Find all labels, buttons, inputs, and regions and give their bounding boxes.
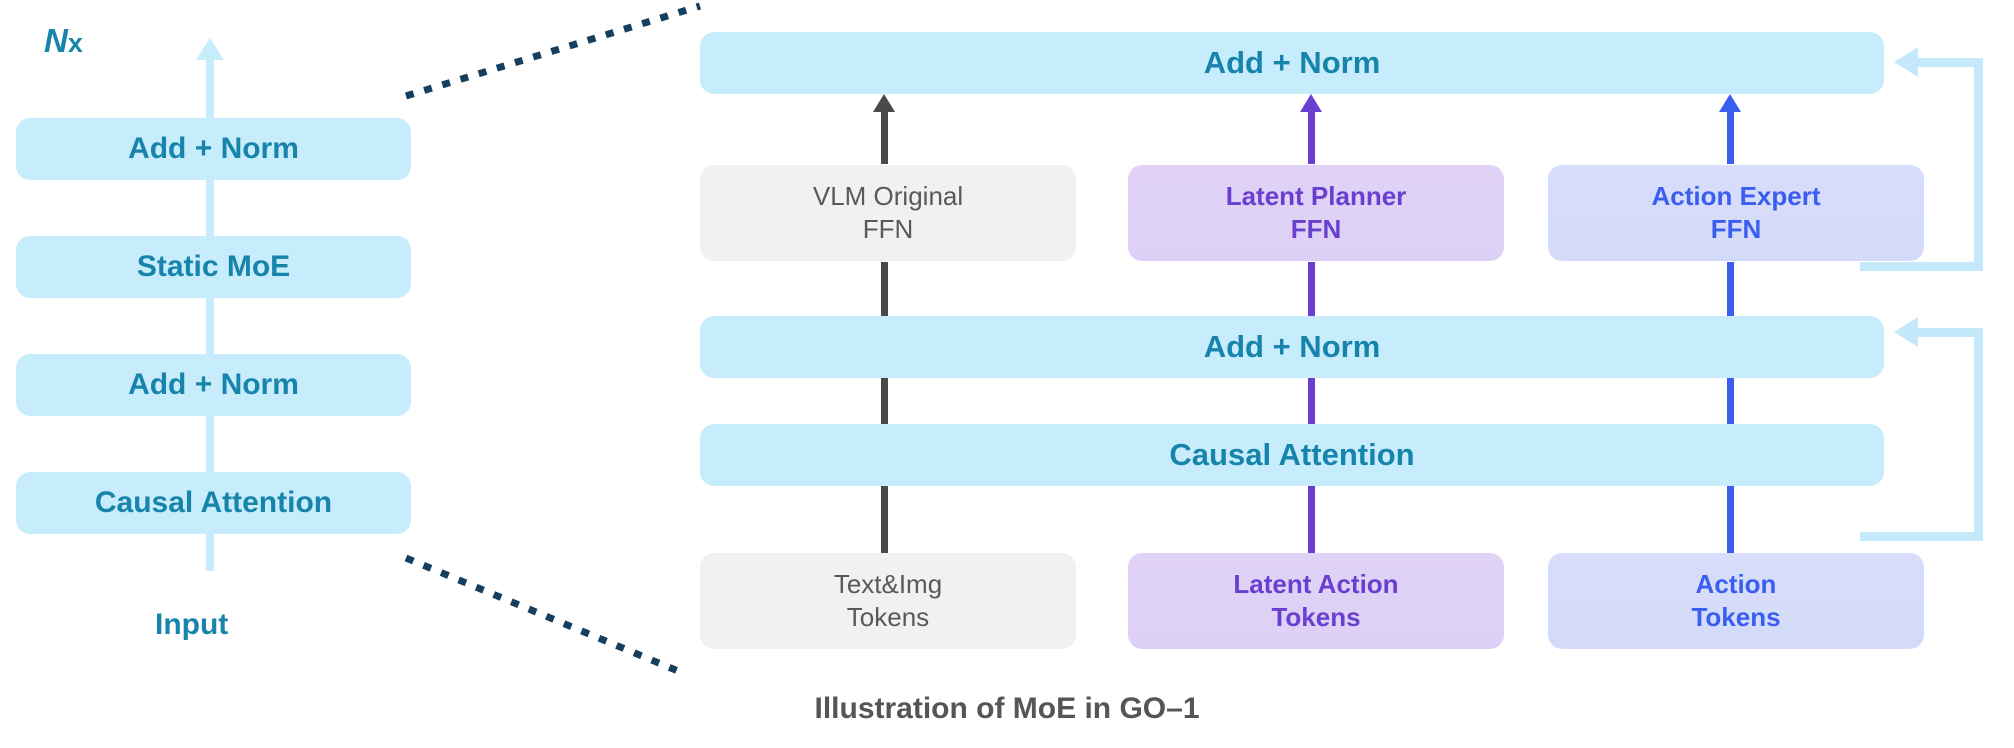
- zoom-connector-bottom: [0, 540, 740, 690]
- ffn-block-latent-planner: Latent Planner FFN: [1128, 165, 1504, 261]
- token-block-latent-action: Latent Action Tokens: [1128, 553, 1504, 649]
- connector-action-tokens-to-attention: [1727, 486, 1734, 555]
- ffn-block-line2: FFN: [1711, 213, 1762, 246]
- connector-text-tokens-to-attention: [881, 486, 888, 555]
- ffn-block-line1: Action Expert: [1651, 180, 1820, 213]
- residual-seg-horizontal-bottom: [1860, 262, 1983, 271]
- figure-caption: Illustration of MoE in GO–1: [0, 692, 2014, 726]
- left-block-label: Causal Attention: [95, 484, 332, 522]
- ffn-block-line2: FFN: [863, 213, 914, 246]
- left-block-add-norm-bottom: Add + Norm: [16, 354, 411, 416]
- residual-arrowhead-icon: [1894, 317, 1918, 347]
- ffn-block-line2: FFN: [1291, 213, 1342, 246]
- left-block-label: Add + Norm: [128, 130, 299, 168]
- ffn-block-line1: Latent Planner: [1226, 180, 1407, 213]
- residual-seg-vertical: [1974, 58, 1983, 271]
- figure-caption-text: Illustration of MoE in GO–1: [814, 692, 1199, 725]
- left-block-label: Add + Norm: [128, 366, 299, 404]
- token-block-line2: Tokens: [847, 601, 929, 634]
- figure-canvas: Nx Add + Norm Static MoE Add + Norm Caus…: [0, 0, 2014, 748]
- residual-seg-horizontal-top: [1918, 58, 1983, 67]
- left-block-static-moe: Static MoE: [16, 236, 411, 298]
- ffn-block-action-expert: Action Expert FFN: [1548, 165, 1924, 261]
- connector-attention-to-norm-planner: [1308, 378, 1315, 424]
- token-block-line2: Tokens: [1271, 601, 1360, 634]
- connector-arrow-planner-icon: [1300, 94, 1322, 112]
- token-block-line1: Text&Img: [834, 568, 942, 601]
- token-block-action: Action Tokens: [1548, 553, 1924, 649]
- ffn-block-vlm-original: VLM Original FFN: [700, 165, 1076, 261]
- residual-arrowhead-icon: [1894, 47, 1918, 77]
- connector-arrow-vlm-icon: [873, 94, 895, 112]
- token-block-line1: Latent Action: [1233, 568, 1398, 601]
- residual-seg-horizontal-bottom: [1860, 532, 1983, 541]
- ffn-block-line1: VLM Original: [813, 180, 963, 213]
- right-block-add-norm-middle: Add + Norm: [700, 316, 1884, 378]
- right-block-add-norm-top: Add + Norm: [700, 32, 1884, 94]
- connector-arrow-action-icon: [1719, 94, 1741, 112]
- connector-planner-ffn-to-norm: [1308, 112, 1315, 164]
- right-block-label: Add + Norm: [1204, 43, 1381, 83]
- token-block-line1: Action: [1696, 568, 1777, 601]
- zoom-connector-top: [0, 0, 740, 110]
- residual-seg-horizontal-top: [1918, 328, 1983, 337]
- left-block-add-norm-top: Add + Norm: [16, 118, 411, 180]
- right-block-causal-attention: Causal Attention: [700, 424, 1884, 486]
- token-block-text-img: Text&Img Tokens: [700, 553, 1076, 649]
- connector-action-ffn-to-norm: [1727, 112, 1734, 164]
- left-block-causal-attention: Causal Attention: [16, 472, 411, 534]
- connector-vlm-ffn-to-norm: [881, 112, 888, 164]
- connector-latent-tokens-to-attention: [1308, 486, 1315, 555]
- residual-seg-vertical: [1974, 328, 1983, 541]
- right-block-label: Causal Attention: [1169, 435, 1414, 475]
- token-block-line2: Tokens: [1691, 601, 1780, 634]
- right-block-label: Add + Norm: [1204, 327, 1381, 367]
- connector-attention-to-norm-vlm: [881, 378, 888, 424]
- connector-attention-to-norm-action: [1727, 378, 1734, 424]
- left-block-label: Static MoE: [137, 248, 290, 286]
